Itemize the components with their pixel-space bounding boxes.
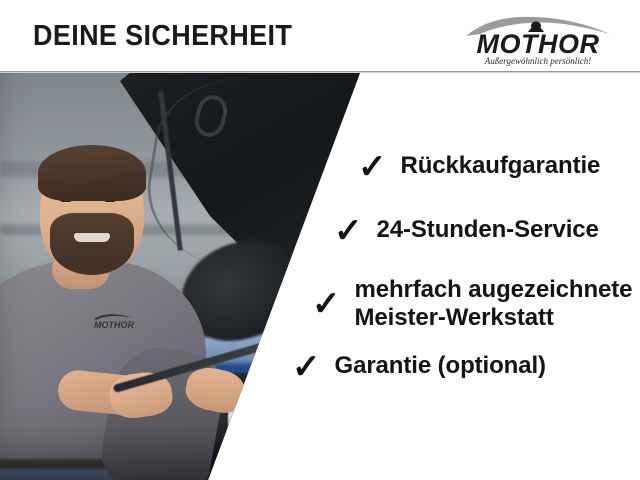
logo-tagline: Außergewöhnlich persönlich! (484, 56, 591, 66)
check-icon: ✓ (334, 216, 363, 246)
chest-logo: MOTHOR (92, 311, 136, 331)
banner-header: DEINE SICHERHEIT MOTHOR Außergewöhnlich … (0, 0, 640, 72)
washer-fluid-reservoir (228, 405, 294, 467)
feature-item-24-stunden-service: ✓ 24-Stunden-Service (334, 216, 599, 246)
logo-wordmark: MOTHOR (477, 29, 600, 59)
header-divider (0, 71, 640, 73)
feature-line-2: Meister-Werkstatt (355, 304, 633, 332)
feature-item-meister-werkstatt: ✓ mehrfach augezeichnete Meister-Werksta… (312, 276, 632, 332)
check-icon: ✓ (292, 352, 321, 382)
chest-logo-wordmark: MOTHOR (94, 320, 134, 330)
mechanic-hair (38, 145, 146, 201)
mechanic-beard (50, 213, 134, 275)
feature-list: ✓ Rückkaufgarantie ✓ 24-Stunden-Service … (286, 130, 640, 420)
feature-item-garantie-optional: ✓ Garantie (optional) (292, 352, 546, 382)
advertisement-banner: DEINE SICHERHEIT MOTHOR Außergewöhnlich … (0, 0, 640, 480)
feature-label: 24-Stunden-Service (377, 216, 599, 244)
feature-line-1: 24-Stunden-Service (377, 216, 599, 243)
reservoir-cap (244, 393, 284, 411)
chest-logo-svg: MOTHOR (92, 311, 136, 331)
feature-line-1: Rückkaufgarantie (401, 152, 601, 179)
mothor-logo-svg: MOTHOR Außergewöhnlich persönlich! (458, 12, 618, 68)
feature-label: Garantie (optional) (335, 352, 546, 380)
feature-label: mehrfach augezeichnete Meister-Werkstatt (355, 276, 633, 332)
feature-label: Rückkaufgarantie (401, 152, 601, 180)
feature-line-1: Garantie (optional) (335, 352, 546, 379)
check-icon: ✓ (358, 152, 387, 182)
feature-item-rueckkaufgarantie: ✓ Rückkaufgarantie (358, 152, 600, 182)
page-title: DEINE SICHERHEIT (33, 20, 292, 53)
check-icon: ✓ (312, 289, 341, 319)
feature-line-1: mehrfach augezeichnete (355, 276, 633, 303)
mechanic-smile (74, 233, 110, 242)
mothor-logo: MOTHOR Außergewöhnlich persönlich! (458, 12, 618, 68)
